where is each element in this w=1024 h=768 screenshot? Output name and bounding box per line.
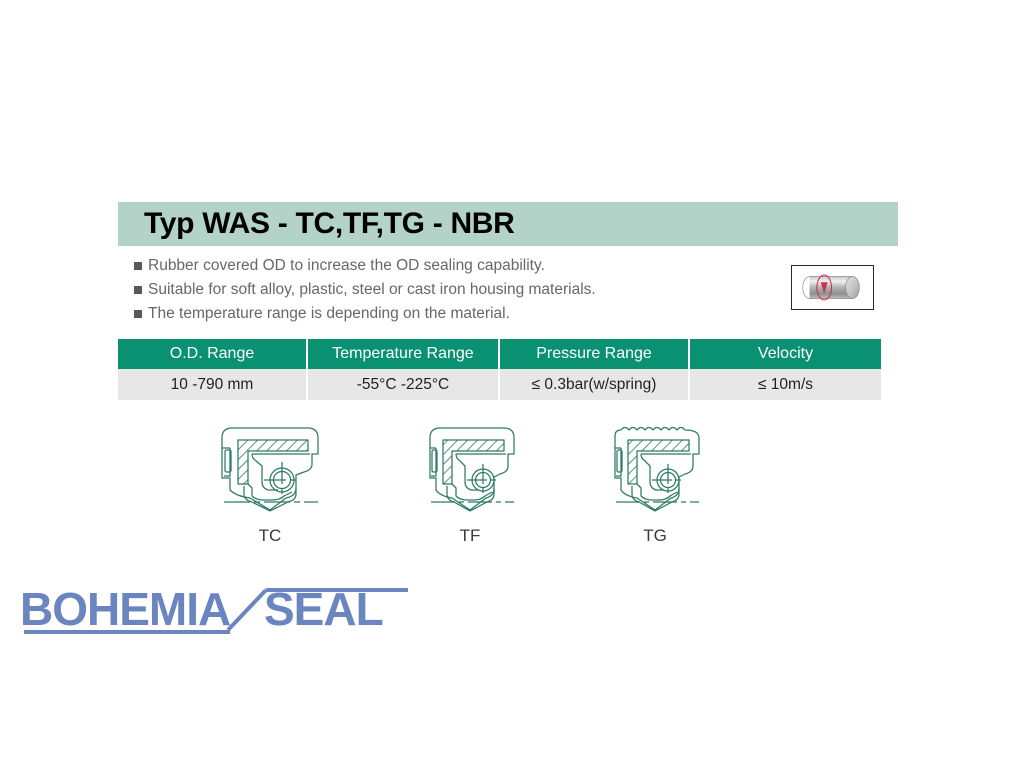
- list-item: Rubber covered OD to increase the OD sea…: [134, 256, 754, 278]
- seal-label-tc: TC: [200, 526, 340, 546]
- page-title: Typ WAS - TC,TF,TG - NBR: [144, 207, 515, 241]
- seal-diagram-group: TC: [0, 418, 1024, 553]
- column-header-velocity: Velocity: [689, 339, 881, 369]
- column-header-temperature-range: Temperature Range: [307, 339, 499, 369]
- seal-diagram-tc: TC: [200, 418, 340, 523]
- cell-od-range: 10 -790 mm: [118, 369, 307, 400]
- list-item: The temperature range is depending on th…: [134, 304, 754, 326]
- column-header-pressure-range: Pressure Range: [499, 339, 689, 369]
- logo-text-bohemia: BOHEMIA: [20, 583, 230, 635]
- feature-text: Suitable for soft alloy, plastic, steel …: [148, 280, 596, 300]
- company-logo: BOHEMIA SEAL: [16, 578, 416, 648]
- square-bullet-icon: [134, 286, 142, 294]
- feature-text: Rubber covered OD to increase the OD sea…: [148, 256, 545, 276]
- seal-label-tf: TF: [400, 526, 540, 546]
- feature-text: The temperature range is depending on th…: [148, 304, 510, 324]
- seal-label-tg: TG: [585, 526, 725, 546]
- cell-temperature-range: -55°C -225°C: [307, 369, 499, 400]
- feature-list: Rubber covered OD to increase the OD sea…: [134, 256, 754, 328]
- specification-table: O.D. Range Temperature Range Pressure Ra…: [118, 339, 881, 400]
- title-band: Typ WAS - TC,TF,TG - NBR: [118, 202, 898, 246]
- rotating-shaft-icon: [791, 265, 874, 310]
- cell-velocity: ≤ 10m/s: [689, 369, 881, 400]
- column-header-od-range: O.D. Range: [118, 339, 307, 369]
- seal-diagram-tg: TG: [585, 418, 725, 523]
- list-item: Suitable for soft alloy, plastic, steel …: [134, 280, 754, 302]
- table-row: 10 -790 mm -55°C -225°C ≤ 0.3bar(w/sprin…: [118, 369, 881, 400]
- table-header-row: O.D. Range Temperature Range Pressure Ra…: [118, 339, 881, 369]
- square-bullet-icon: [134, 262, 142, 270]
- square-bullet-icon: [134, 310, 142, 318]
- cell-pressure-range: ≤ 0.3bar(w/spring): [499, 369, 689, 400]
- seal-diagram-tf: TF: [400, 418, 540, 523]
